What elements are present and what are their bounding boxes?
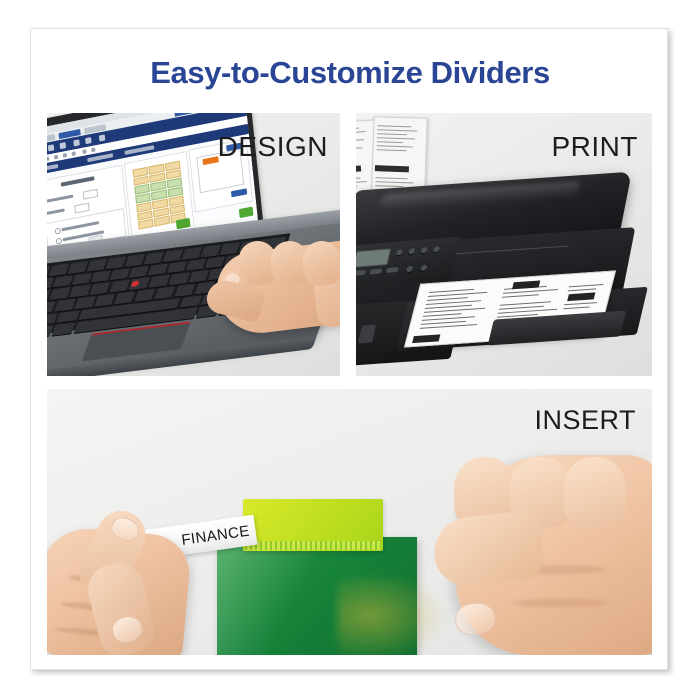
- printer-lcd-display: [356, 248, 391, 268]
- tab-pocket-stitching: [245, 541, 381, 550]
- ribbon-icon[interactable]: [60, 142, 67, 149]
- control-button[interactable]: [433, 246, 441, 253]
- radio-button[interactable]: [55, 228, 62, 235]
- panel-design: DESIGN: [47, 113, 340, 376]
- panel-label-print: PRINT: [552, 131, 639, 163]
- thumbnail: [109, 613, 144, 645]
- form-input[interactable]: [83, 189, 99, 200]
- power-button[interactable]: [420, 265, 428, 272]
- form-label: [47, 208, 65, 215]
- toolbar-icon[interactable]: [54, 155, 58, 160]
- control-button[interactable]: [396, 249, 404, 256]
- template-preview: [124, 151, 195, 241]
- control-button[interactable]: [369, 268, 382, 274]
- ribbon-icon[interactable]: [85, 137, 92, 144]
- divider-tab-swatch: [202, 156, 218, 165]
- left-hand: [47, 501, 237, 655]
- hand-on-touchpad: [199, 233, 340, 343]
- panel-label-design: DESIGN: [218, 131, 328, 163]
- preview-action-button[interactable]: [231, 188, 247, 197]
- toolbar-icon[interactable]: [82, 149, 86, 154]
- screenshot-root: Easy-to-Customize Dividers: [0, 0, 700, 700]
- radio-label: [62, 221, 100, 231]
- template-cell[interactable]: [138, 219, 154, 230]
- right-thumb: [431, 510, 546, 589]
- right-hand: [426, 437, 652, 655]
- next-button[interactable]: [239, 207, 254, 219]
- control-button[interactable]: [408, 248, 416, 255]
- toolbar-icon[interactable]: [72, 151, 76, 156]
- control-button[interactable]: [386, 267, 399, 273]
- panel-label-insert: INSERT: [534, 405, 636, 436]
- ribbon-icon[interactable]: [73, 139, 80, 146]
- toolbar-icon[interactable]: [63, 153, 67, 158]
- control-button[interactable]: [420, 247, 428, 254]
- control-button[interactable]: [356, 270, 366, 276]
- page-title: Easy-to-Customize Dividers: [31, 55, 669, 91]
- control-button[interactable]: [406, 266, 414, 273]
- toolbar-icon[interactable]: [47, 156, 49, 161]
- form-input[interactable]: [74, 203, 90, 214]
- toolbar-icon[interactable]: [91, 147, 95, 152]
- panel-insert: INSERT: [47, 389, 652, 655]
- knuckle: [564, 457, 626, 527]
- template-cell[interactable]: [154, 216, 170, 227]
- fingernail: [108, 513, 143, 545]
- product-info-card: Easy-to-Customize Dividers: [30, 28, 668, 670]
- ribbon-icon[interactable]: [99, 134, 106, 141]
- panel-print: PRINT: [356, 113, 652, 376]
- ribbon-icon[interactable]: [48, 144, 55, 151]
- dialog-title: [61, 176, 95, 186]
- apply-button[interactable]: [176, 218, 191, 230]
- form-label: [47, 195, 73, 204]
